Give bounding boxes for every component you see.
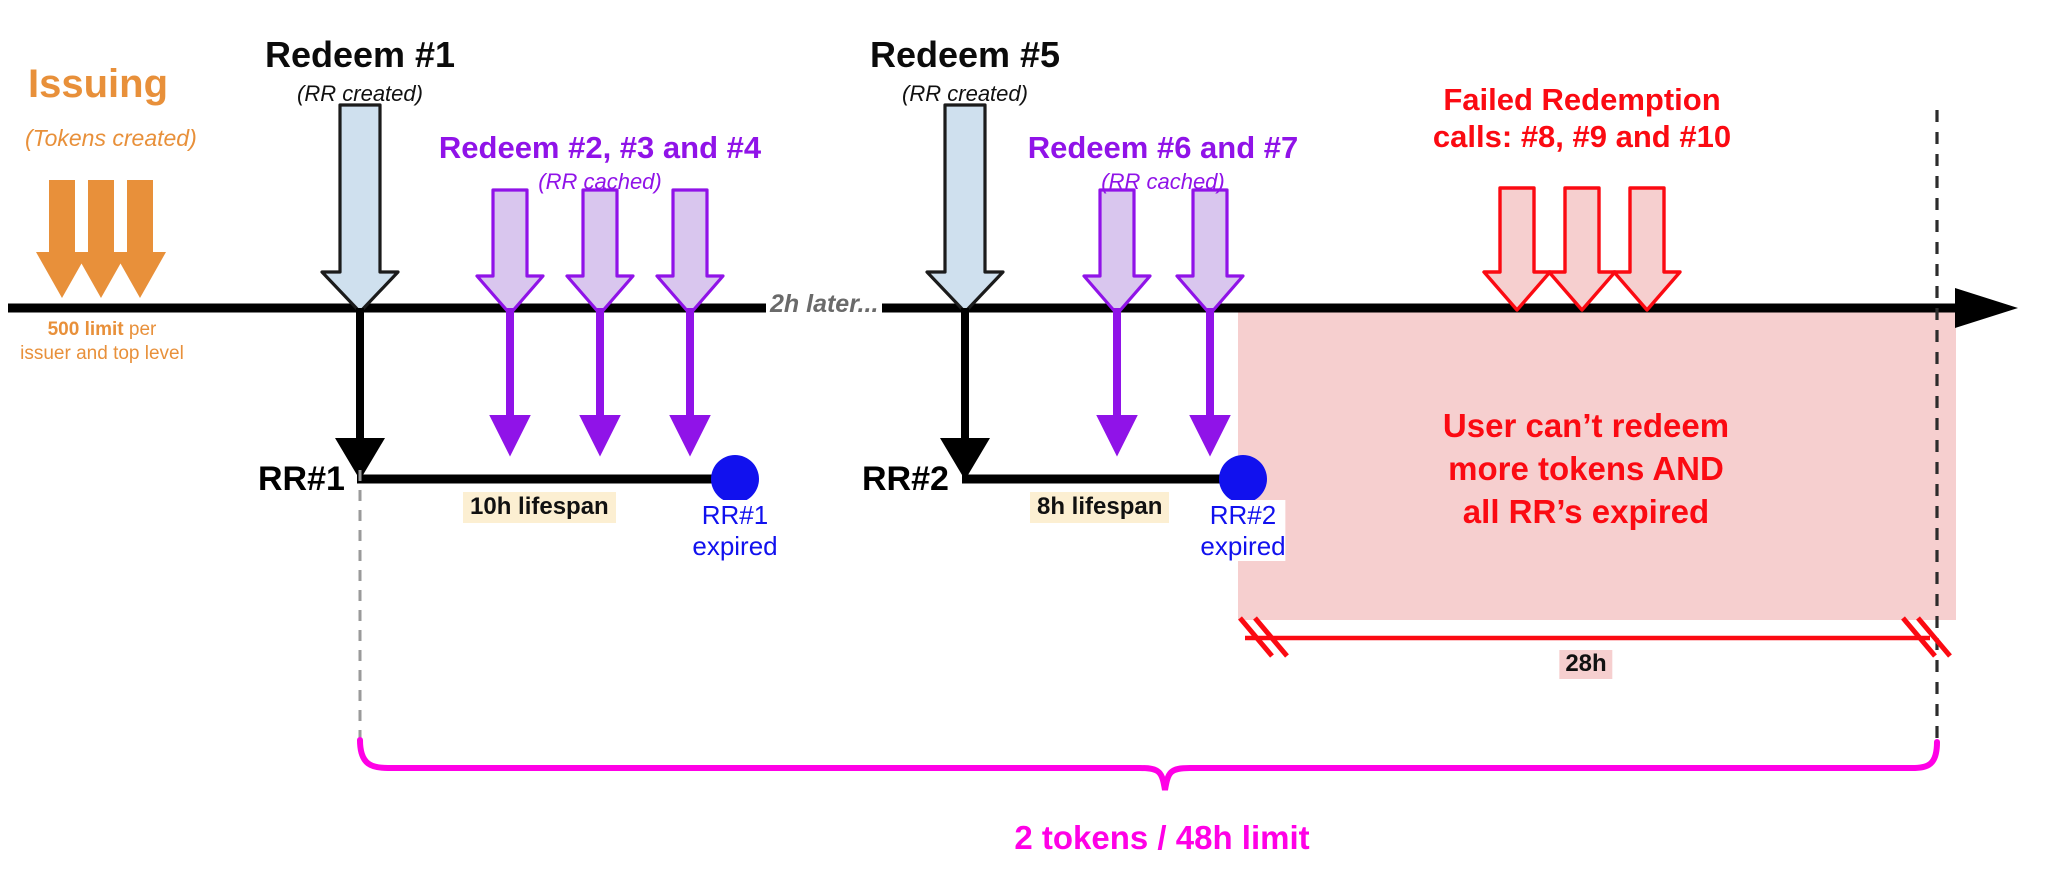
blocked-message-line2: more tokens AND (1448, 450, 1724, 487)
issuing-arrows (36, 180, 166, 298)
rr1-expired-line1: RR#1 (702, 500, 768, 530)
rr2-expired-label: RR#2 expired (1200, 500, 1285, 561)
rr2-expired-line2: expired (1200, 531, 1285, 561)
issuing-subtitle: (Tokens created) (25, 126, 197, 152)
rr1-label: RR#1 (258, 460, 345, 498)
token-limit-label: 2 tokens / 48h limit (1014, 820, 1309, 857)
failed-redemption-arrows (1484, 188, 1680, 310)
blocked-message-line1: User can’t redeem (1443, 407, 1729, 444)
blocked-message: User can’t redeem more tokens AND all RR… (1443, 405, 1729, 534)
redeem234-arrows (477, 190, 723, 314)
diagram-canvas: Issuing (Tokens created) 500 limit per i… (0, 0, 2048, 882)
rr2-expired-line1: RR#2 (1210, 500, 1276, 530)
redeem1-arrow (322, 105, 398, 312)
issuing-title: Issuing (28, 62, 168, 107)
failed-redemption-title-line2: calls: #8, #9 and #10 (1433, 119, 1731, 154)
redeem67-arrows (1084, 190, 1243, 314)
rr1-expired-dot (711, 455, 759, 503)
redeem5-subtitle: (RR created) (902, 82, 1028, 107)
redeem67-subtitle: (RR cached) (1101, 170, 1224, 195)
issuing-note-line2: issuer and top level (20, 343, 184, 364)
rr1-expired-label: RR#1 expired (692, 500, 777, 561)
timeline-axis-arrowhead (1955, 288, 2018, 328)
failed-redemption-title-line1: Failed Redemption (1443, 82, 1720, 117)
issuing-note: 500 limit per issuer and top level (20, 318, 184, 367)
rr2-expired-dot (1219, 455, 1267, 503)
duration-28h-label: 28h (1559, 650, 1612, 679)
rr2-label: RR#2 (862, 460, 949, 498)
redeem5-title: Redeem #5 (870, 35, 1060, 75)
failed-redemption-title: Failed Redemption calls: #8, #9 and #10 (1433, 82, 1731, 155)
gap-label: 2h later... (766, 290, 882, 318)
diagram-vector-layer (0, 0, 2048, 882)
redeem67-connectors (1117, 308, 1210, 434)
rr1-lifespan-chip: 10h lifespan (463, 492, 616, 523)
token-limit-brace (360, 740, 1937, 790)
redeem234-subtitle: (RR cached) (538, 170, 661, 195)
redeem234-title: Redeem #2, #3 and #4 (439, 131, 761, 166)
rr2-lifespan-chip: 8h lifespan (1030, 492, 1169, 523)
redeem1-subtitle: (RR created) (297, 82, 423, 107)
blocked-message-line3: all RR’s expired (1463, 493, 1709, 530)
issuing-note-bold: 500 limit (48, 319, 124, 340)
rr1-expired-line2: expired (692, 531, 777, 561)
redeem234-connectors (510, 308, 690, 434)
issuing-note-rest: per (124, 319, 157, 340)
redeem67-title: Redeem #6 and #7 (1028, 131, 1299, 166)
redeem1-title: Redeem #1 (265, 35, 455, 75)
redeem5-arrow (927, 105, 1003, 312)
